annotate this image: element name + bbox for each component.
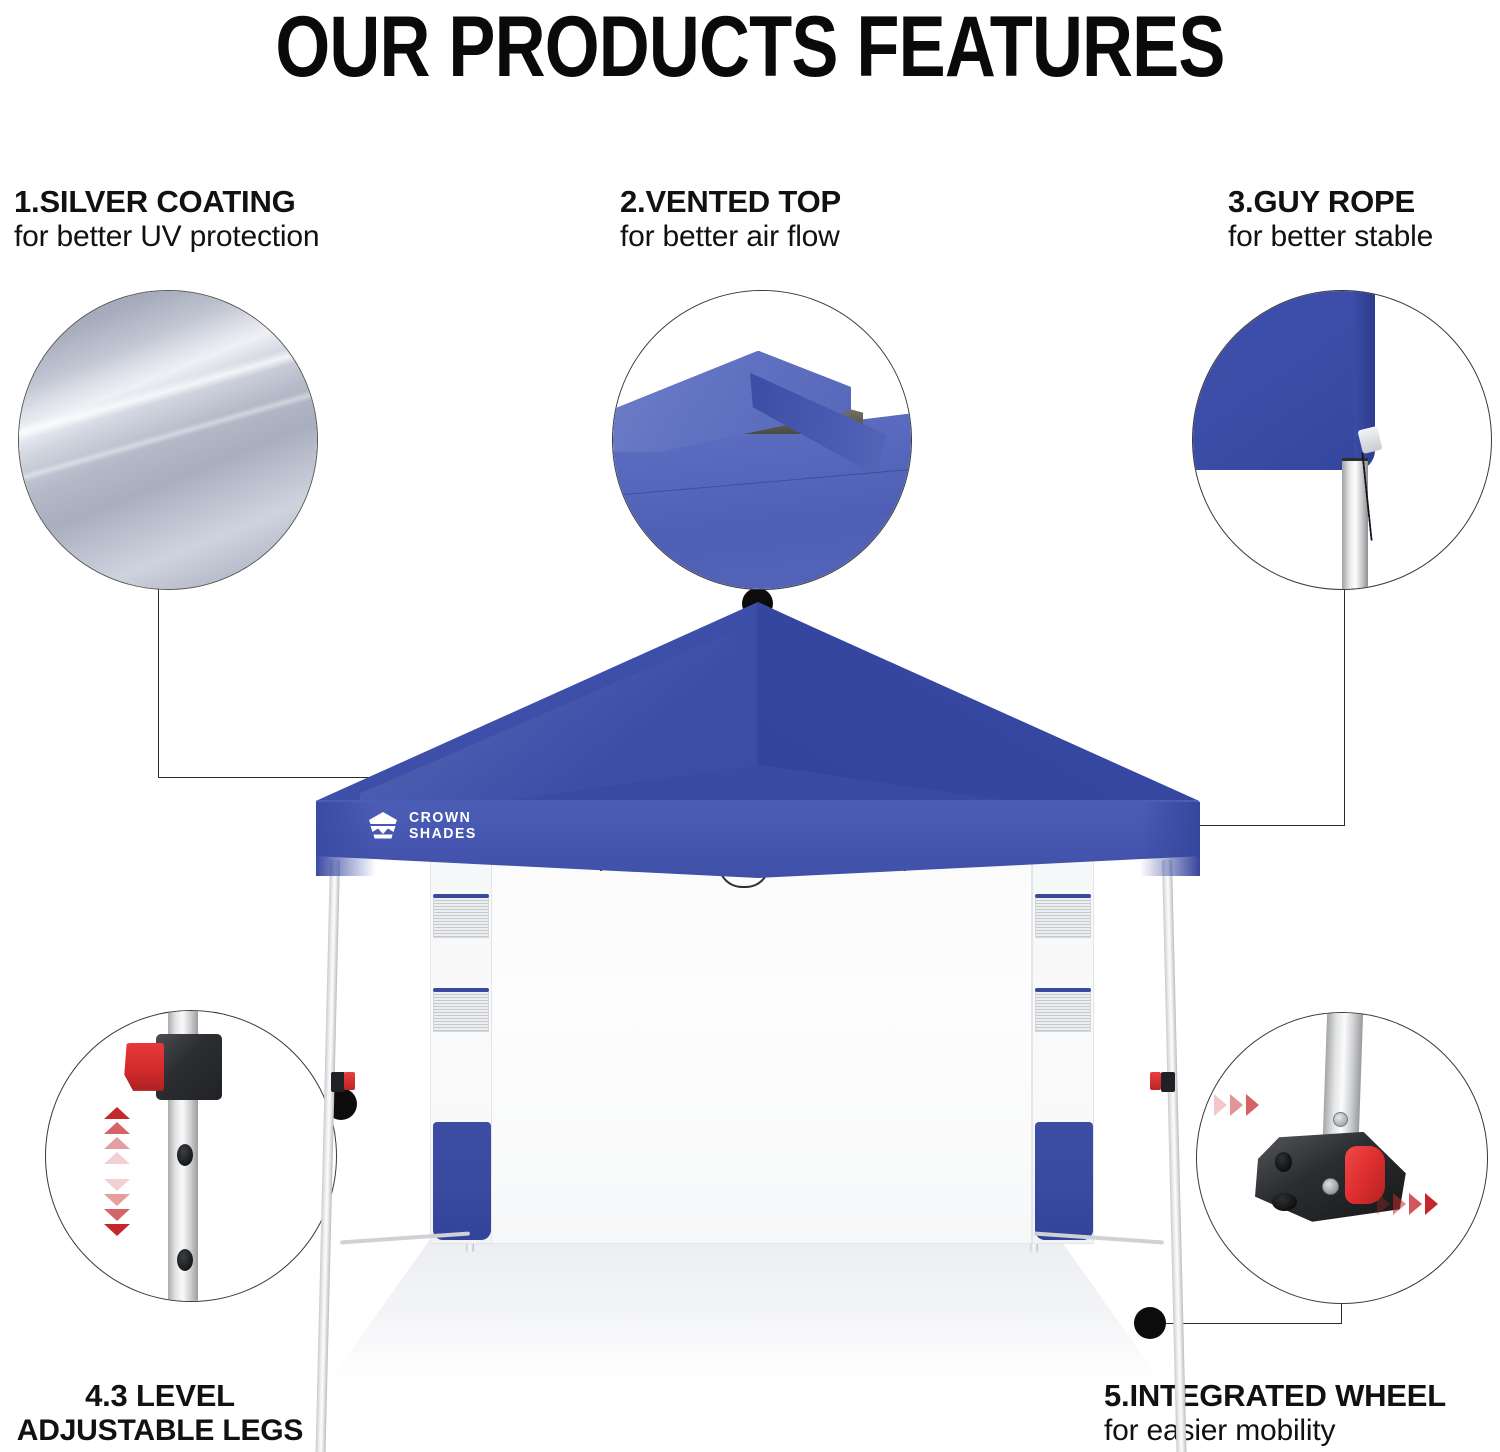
feature-image-vented-top	[612, 290, 912, 590]
page-title: OUR PRODUCTS FEATURES	[135, 2, 1365, 92]
feature-subtitle-3: for better stable	[1228, 220, 1433, 255]
crown-shades-logo-icon	[366, 811, 400, 841]
feature-label-5: 5.INTEGRATED WHEEL for easier mobility	[1104, 1378, 1500, 1449]
feature-title-3: 3.GUY ROPE	[1228, 184, 1433, 220]
leg-collar-right	[1161, 1072, 1175, 1092]
mesh-pocket	[1035, 896, 1091, 938]
leg-release-tab-right	[1150, 1072, 1161, 1090]
weight-bag-left	[433, 1122, 491, 1240]
canopy-leg-front-right	[1162, 860, 1191, 1452]
feature-subtitle-5: for easier mobility	[1104, 1414, 1500, 1449]
front-sidewall	[472, 852, 1032, 1244]
leg-collar-left	[331, 1072, 345, 1092]
feature-title-4: 4.3 LEVEL	[0, 1378, 320, 1414]
feature-label-1: 1.SILVER COATING for better UV protectio…	[14, 184, 319, 255]
feature-image-guy-rope	[1192, 290, 1492, 590]
feature-title-5: 5.INTEGRATED WHEEL	[1104, 1378, 1500, 1414]
brand-logo-line2: SHADES	[409, 826, 477, 842]
brand-logo-line1: CROWN	[409, 810, 477, 826]
mesh-pocket	[1035, 990, 1091, 1032]
pocket-zipper	[433, 894, 489, 898]
feature-label-3: 3.GUY ROPE for better stable	[1228, 184, 1433, 255]
feature-image-silver-coating	[18, 290, 318, 590]
feature-subtitle-1: for better UV protection	[14, 220, 319, 255]
feature-title-1: 1.SILVER COATING	[14, 184, 319, 220]
feature-title-2: 2.VENTED TOP	[620, 184, 841, 220]
brand-logo: CROWN SHADES	[366, 810, 481, 842]
canopy-leg-front-left	[311, 860, 340, 1452]
pocket-zipper	[1035, 988, 1091, 992]
weight-bag-right	[1035, 1122, 1093, 1240]
feature-subtitle-2: for better air flow	[620, 220, 841, 255]
canopy-corner	[1192, 290, 1372, 470]
ground-shadow	[330, 1240, 1160, 1380]
valance-fold-right	[1140, 802, 1200, 876]
feature-label-2: 2.VENTED TOP for better air flow	[620, 184, 841, 255]
feature-label-4: 4.3 LEVEL ADJUSTABLE LEGS	[0, 1378, 320, 1449]
pocket-zipper	[433, 988, 489, 992]
infographic-page: OUR PRODUCTS FEATURES 1.SILVER COATING f…	[0, 0, 1500, 1452]
product-illustration-canopy-tent: CROWN SHADES	[0, 560, 1500, 1380]
pocket-zipper	[1035, 894, 1091, 898]
leg-release-tab-left	[344, 1072, 355, 1090]
mesh-pocket	[433, 990, 489, 1032]
feature-subtitle-4: ADJUSTABLE LEGS	[0, 1414, 320, 1449]
mesh-pocket	[433, 896, 489, 938]
brand-logo-text: CROWN SHADES	[409, 810, 477, 842]
